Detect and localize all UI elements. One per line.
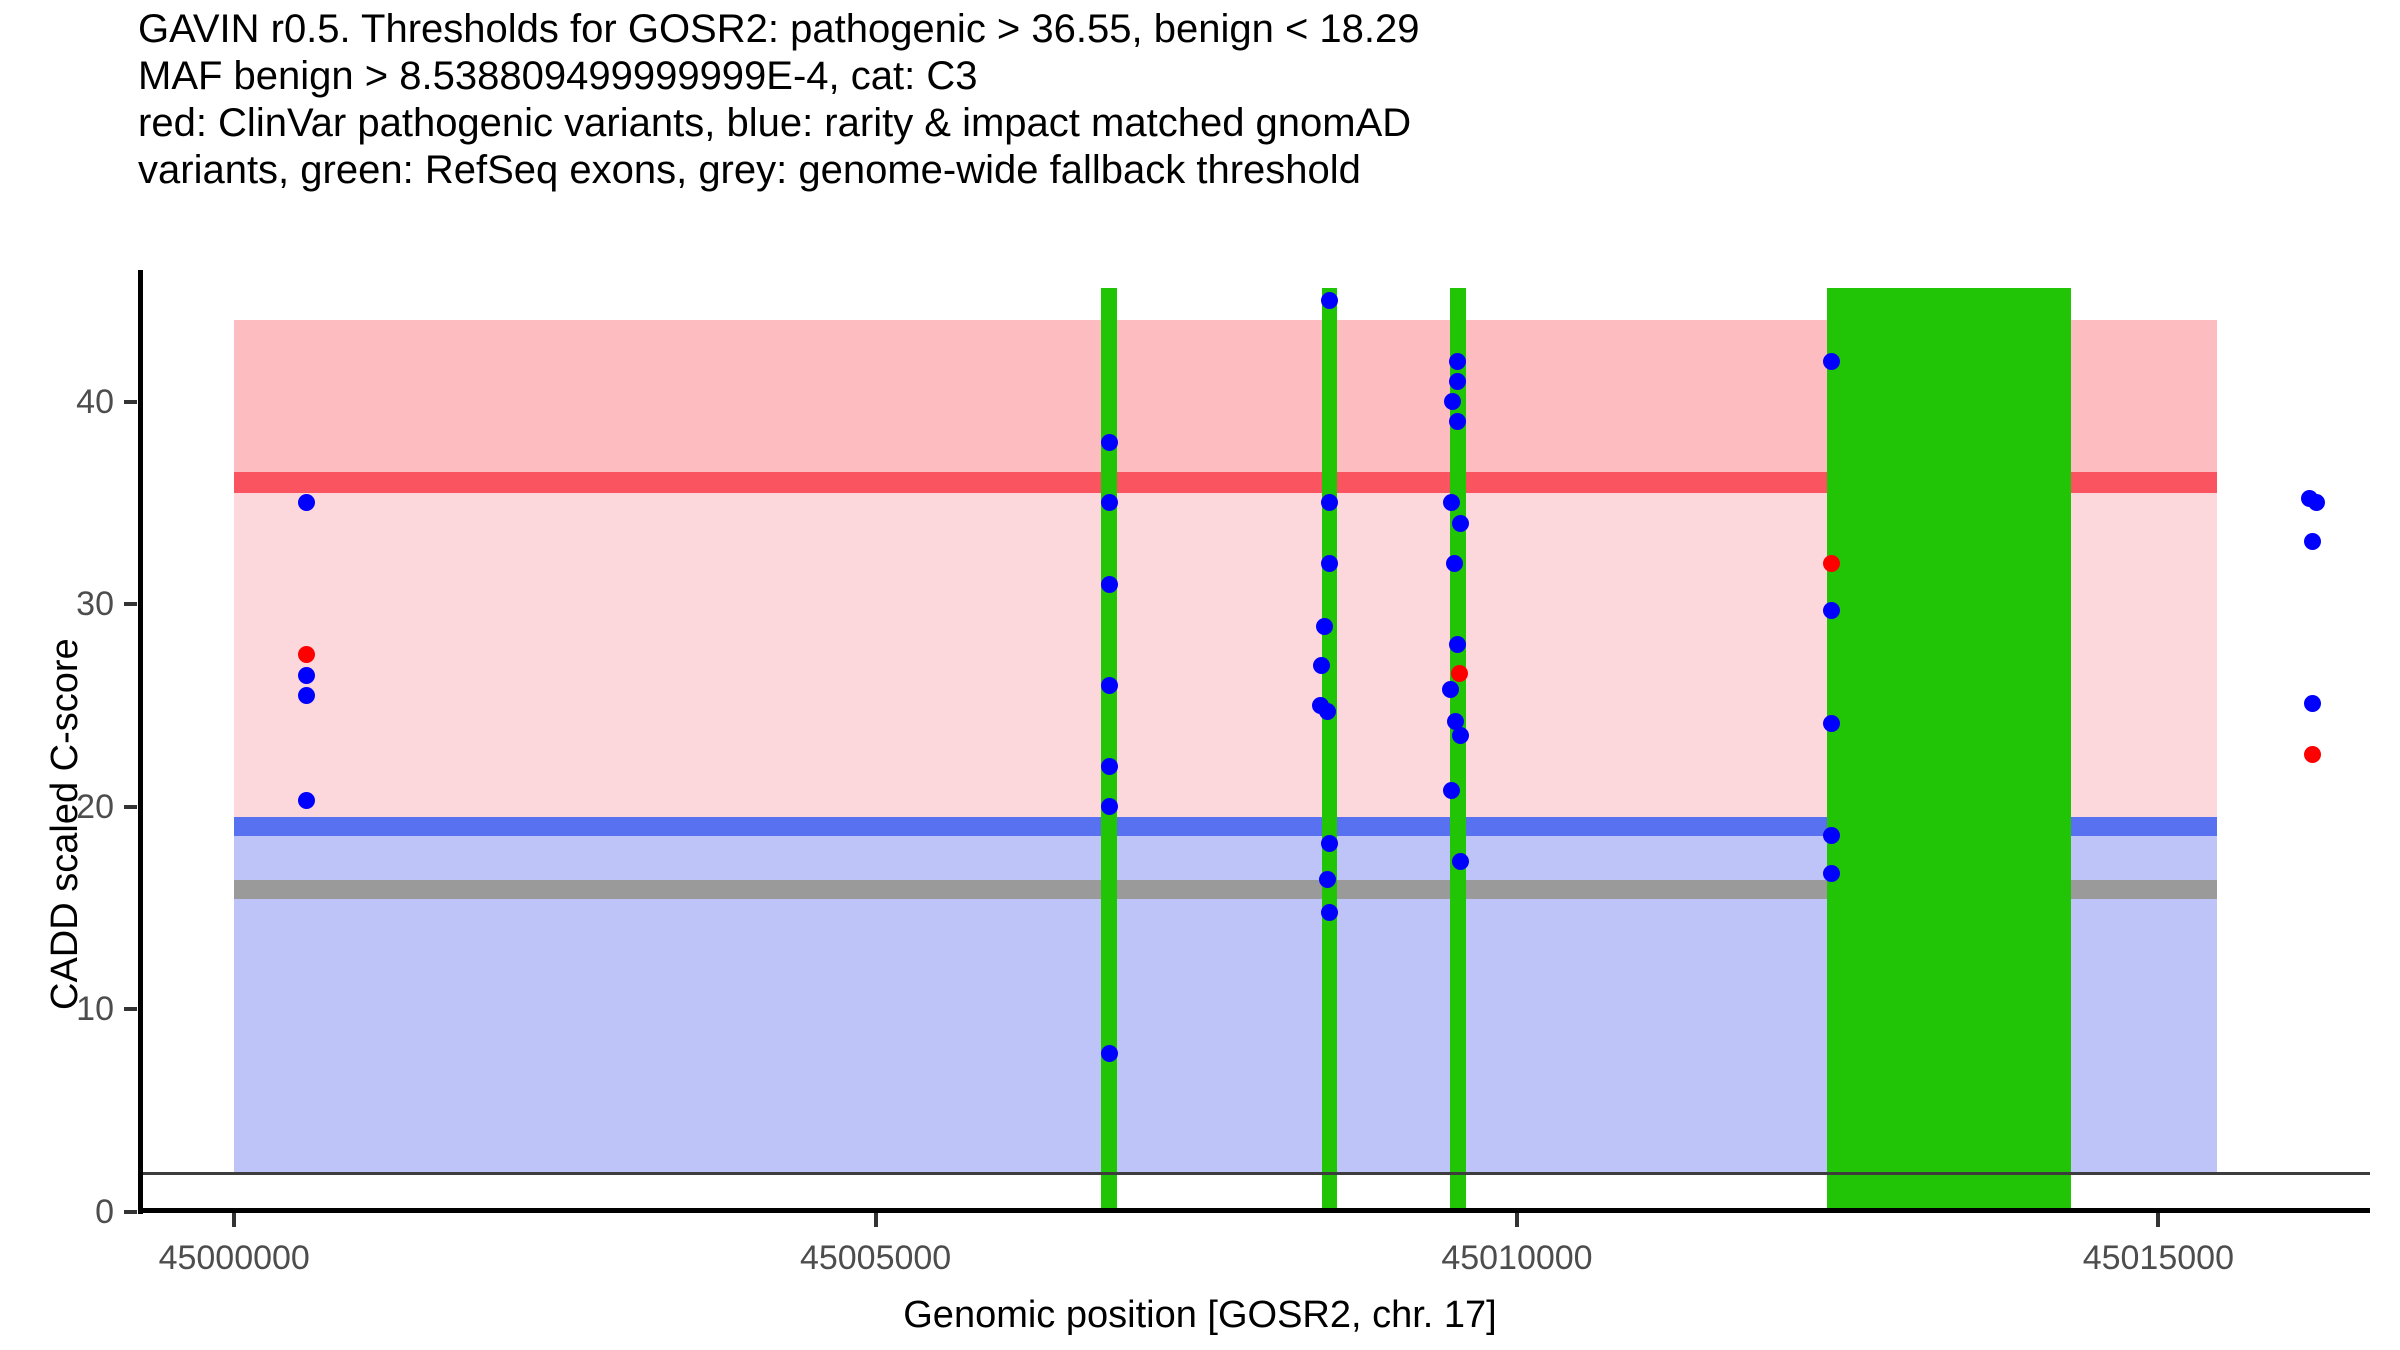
gnomad-variant-point	[1101, 798, 1118, 815]
gnomad-variant-point	[298, 667, 315, 684]
clinvar-pathogenic-point	[1451, 665, 1468, 682]
gnomad-variant-point	[1101, 434, 1118, 451]
y-tick-mark	[124, 400, 137, 404]
gnomad-variant-point	[298, 687, 315, 704]
x-tick-mark	[232, 1213, 236, 1227]
gnomad-variant-point	[298, 792, 315, 809]
y-tick-mark	[124, 1007, 137, 1011]
gnomad-variant-point	[1321, 835, 1338, 852]
exon-rect	[1101, 288, 1116, 1212]
title-line-3: red: ClinVar pathogenic variants, blue: …	[138, 100, 2338, 147]
y-tick-mark	[124, 1210, 137, 1214]
x-axis-line	[138, 1208, 2370, 1213]
gnomad-variant-point	[1101, 758, 1118, 775]
gnomad-variant-point	[1321, 904, 1338, 921]
gnomad-variant-point	[1823, 353, 1840, 370]
y-tick-label: 0	[95, 1195, 114, 1229]
title-line-1: GAVIN r0.5. Thresholds for GOSR2: pathog…	[138, 6, 2338, 53]
gnomad-variant-point	[1823, 715, 1840, 732]
plot-panel	[138, 270, 2370, 1212]
gnomad-variant-point	[1101, 1045, 1118, 1062]
y-tick-mark	[124, 602, 137, 606]
gnomad-variant-point	[1101, 576, 1118, 593]
exon-rect	[1827, 288, 2071, 1212]
clinvar-pathogenic-point	[2304, 746, 2321, 763]
gnomad-variant-point	[298, 494, 315, 511]
x-tick-mark	[874, 1213, 878, 1227]
gnomad-variant-point	[1823, 827, 1840, 844]
gnomad-variant-point	[1321, 292, 1338, 309]
y-tick-mark	[124, 805, 137, 809]
clinvar-pathogenic-point	[298, 646, 315, 663]
gnomad-variant-point	[1313, 657, 1330, 674]
gnomad-variant-point	[1101, 677, 1118, 694]
gnomad-variant-point	[2308, 494, 2325, 511]
exon-rect	[1322, 288, 1337, 1212]
y-axis-label: CADD scaled C-score	[44, 638, 87, 1010]
gnomad-variant-point	[1452, 515, 1469, 532]
gnomad-variant-point	[1446, 555, 1463, 572]
y-axis-line	[138, 270, 143, 1214]
gnomad-variant-point	[1442, 681, 1459, 698]
gnomad-variant-point	[1823, 865, 1840, 882]
gnomad-variant-point	[1452, 853, 1469, 870]
gnomad-variant-point	[1823, 602, 1840, 619]
gnomad-variant-point	[1319, 871, 1336, 888]
y-tick-label: 30	[76, 587, 114, 621]
plot-title: GAVIN r0.5. Thresholds for GOSR2: pathog…	[138, 6, 2338, 194]
gnomad-variant-point	[1101, 494, 1118, 511]
x-tick-label: 45010000	[1441, 1238, 1592, 1278]
x-tick-mark	[1515, 1213, 1519, 1227]
gnomad-variant-point	[1319, 703, 1336, 720]
clinvar-pathogenic-point	[1823, 555, 1840, 572]
x-tick-label: 45000000	[159, 1238, 310, 1278]
gnomad-variant-point	[1316, 618, 1333, 635]
x-tick-label: 45005000	[800, 1238, 951, 1278]
gavin-cadd-plot: GAVIN r0.5. Thresholds for GOSR2: pathog…	[0, 0, 2400, 1350]
gnomad-variant-point	[2304, 695, 2321, 712]
zero-baseline	[138, 1172, 2370, 1175]
title-line-4: variants, green: RefSeq exons, grey: gen…	[138, 147, 2338, 194]
gnomad-variant-point	[1449, 353, 1466, 370]
y-tick-label: 40	[76, 385, 114, 419]
gnomad-variant-point	[2304, 533, 2321, 550]
x-tick-mark	[2156, 1213, 2160, 1227]
x-axis-label: Genomic position [GOSR2, chr. 17]	[0, 1294, 2400, 1337]
title-line-2: MAF benign > 8.538809499999999E-4, cat: …	[138, 53, 2338, 100]
x-tick-label: 45015000	[2083, 1238, 2234, 1278]
